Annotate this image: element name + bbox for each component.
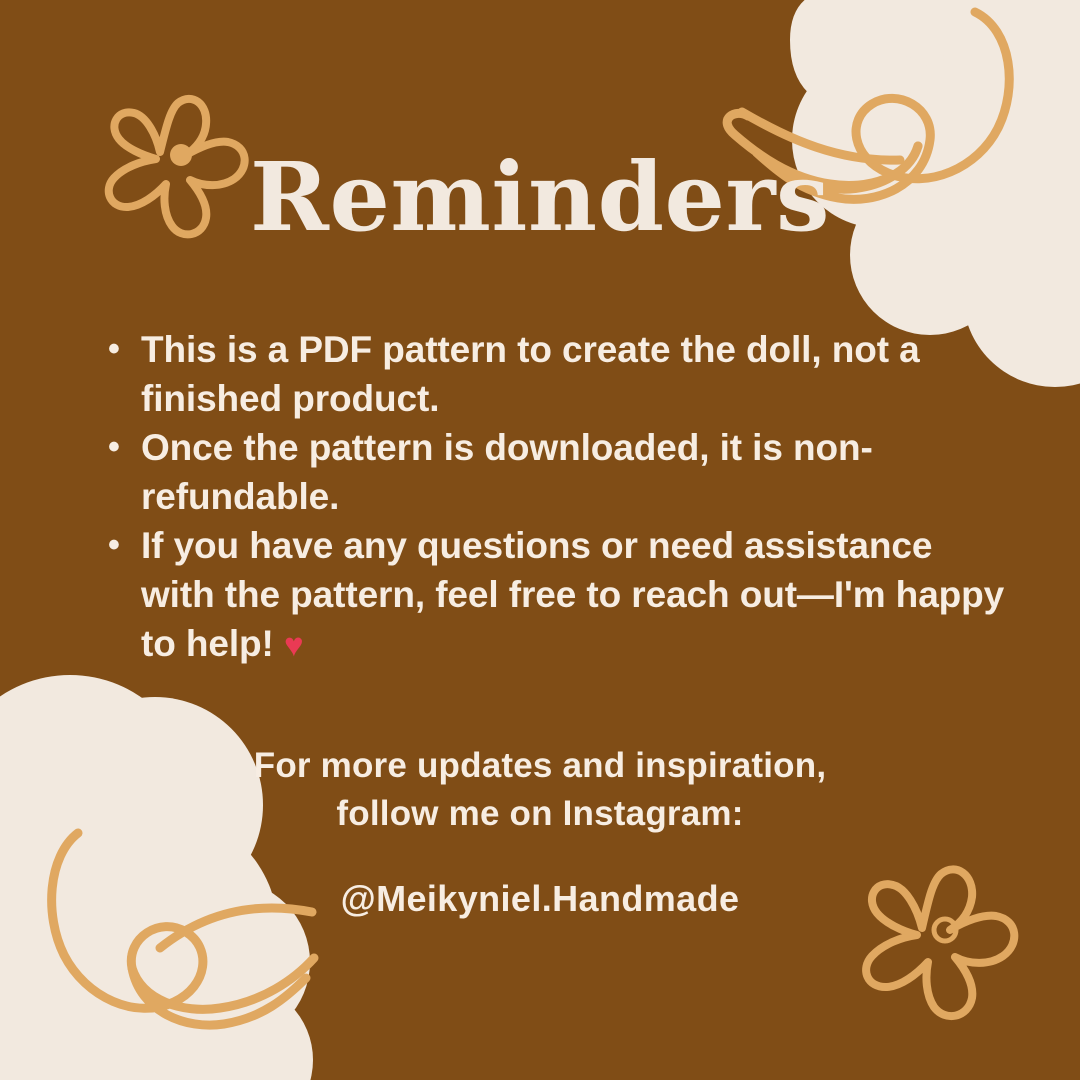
follow-line-2: follow me on Instagram:	[90, 790, 990, 838]
heart-icon: ♥	[284, 626, 304, 663]
list-item: This is a PDF pattern to create the doll…	[104, 325, 1008, 423]
list-item-text: This is a PDF pattern to create the doll…	[141, 329, 920, 419]
list-item-text: If you have any questions or need assist…	[141, 525, 1004, 664]
reminders-list: This is a PDF pattern to create the doll…	[104, 325, 1008, 669]
list-item-text: Once the pattern is downloaded, it is no…	[141, 427, 873, 517]
follow-line-1: For more updates and inspiration,	[90, 742, 990, 790]
page-title: Reminders	[0, 148, 1080, 248]
follow-callout: For more updates and inspiration, follow…	[90, 742, 990, 838]
list-item: If you have any questions or need assist…	[104, 521, 1008, 669]
swirl-bottom-left-icon	[52, 833, 314, 1025]
list-item: Once the pattern is downloaded, it is no…	[104, 423, 1008, 521]
instagram-handle: @Meikyniel.Handmade	[90, 878, 990, 920]
reminders-poster: Reminders This is a PDF pattern to creat…	[0, 0, 1080, 1080]
